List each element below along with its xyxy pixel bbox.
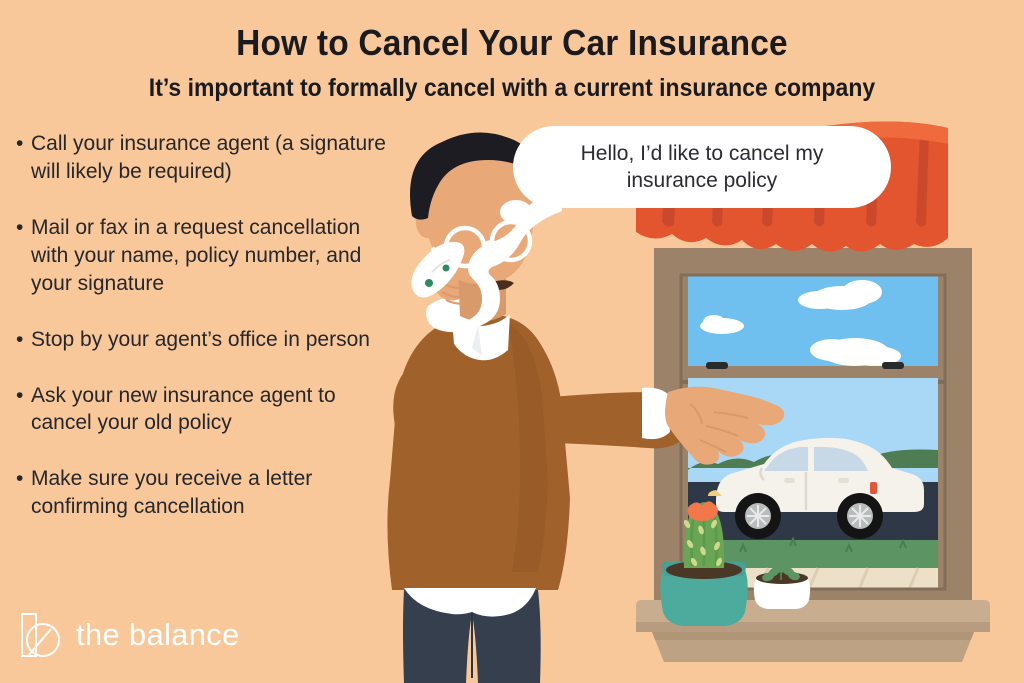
list-item: • Ask your new insurance agent to cancel… (16, 382, 388, 438)
list-item-label: Make sure you receive a letter confirmin… (31, 465, 388, 521)
cloud (810, 339, 854, 361)
brand-logo-text: the balance (76, 617, 240, 653)
page-subtitle: It’s important to formally cancel with a… (41, 74, 983, 103)
bullet-marker-icon: • (16, 130, 29, 158)
phone-dot (425, 279, 433, 287)
list-item: • Mail or fax in a request cancellation … (16, 214, 388, 298)
header: How to Cancel Your Car Insurance It’s im… (0, 0, 1024, 112)
tips-list: • Call your insurance agent (a signature… (16, 130, 388, 549)
list-item: • Stop by your agent’s office in person (16, 326, 388, 354)
bullet-marker-icon: • (16, 326, 29, 354)
cloud (703, 315, 725, 329)
cloud (798, 291, 842, 309)
speech-bubble-text: Hello, I’d like to cancel my insurance p… (537, 140, 867, 195)
infographic-canvas: How to Cancel Your Car Insurance It’s im… (0, 0, 1024, 683)
speech-bubble: Hello, I’d like to cancel my insurance p… (513, 126, 891, 208)
bullet-marker-icon: • (16, 214, 29, 242)
cloud (842, 280, 882, 304)
list-item: • Make sure you receive a letter confirm… (16, 465, 388, 521)
brand-logo: the balance (20, 612, 240, 658)
balance-b-mark-icon (20, 612, 64, 658)
list-item-label: Ask your new insurance agent to cancel y… (31, 382, 388, 438)
list-item-label: Mail or fax in a request cancellation wi… (31, 214, 388, 298)
window-upper-pane (688, 270, 938, 370)
bullet-marker-icon: • (16, 465, 29, 493)
car-taillight (870, 482, 877, 494)
window-latch (882, 362, 904, 369)
page-title: How to Cancel Your Car Insurance (36, 22, 988, 64)
list-item-label: Stop by your agent’s office in person (31, 326, 388, 354)
phone-dot (443, 265, 450, 272)
car-handle-rear (838, 478, 849, 483)
list-item: • Call your insurance agent (a signature… (16, 130, 388, 186)
car-handle-front (784, 478, 795, 483)
list-item-label: Call your insurance agent (a signature w… (31, 130, 388, 186)
bullet-marker-icon: • (16, 382, 29, 410)
window-latch (706, 362, 728, 369)
